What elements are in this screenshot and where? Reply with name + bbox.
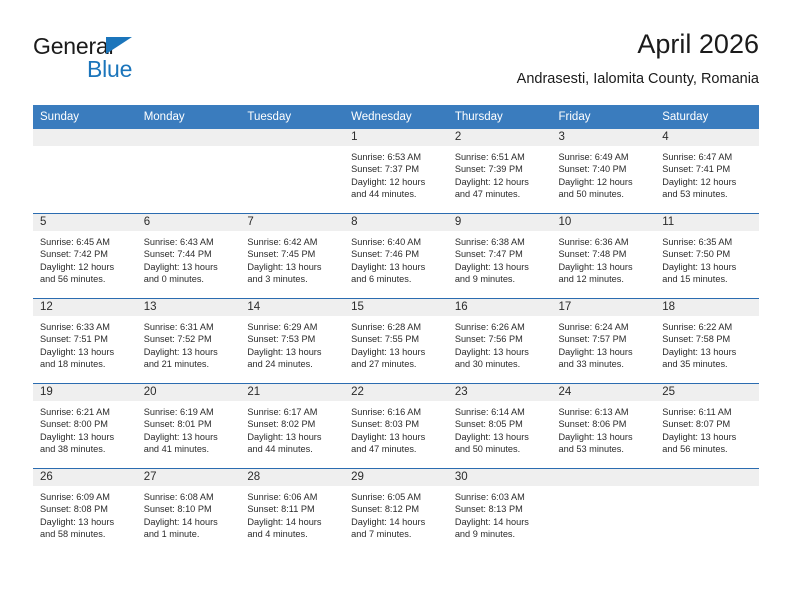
sunrise-text: Sunrise: 6:47 AM bbox=[662, 151, 753, 163]
daylight-text-line2: and 41 minutes. bbox=[144, 443, 235, 455]
calendar-day-cell[interactable] bbox=[137, 129, 241, 214]
daylight-text-line1: Daylight: 13 hours bbox=[144, 346, 235, 358]
sunset-text: Sunset: 7:58 PM bbox=[662, 333, 753, 345]
calendar-day-cell[interactable]: 1Sunrise: 6:53 AMSunset: 7:37 PMDaylight… bbox=[344, 129, 448, 214]
calendar-day-cell[interactable]: 21Sunrise: 6:17 AMSunset: 8:02 PMDayligh… bbox=[240, 384, 344, 469]
sunset-text: Sunset: 7:44 PM bbox=[144, 248, 235, 260]
weekday-header-wednesday: Wednesday bbox=[344, 105, 448, 129]
sunrise-sunset-calendar: Sunday Monday Tuesday Wednesday Thursday… bbox=[33, 105, 759, 553]
daylight-text-line1: Daylight: 12 hours bbox=[40, 261, 131, 273]
daylight-text-line1: Daylight: 14 hours bbox=[144, 516, 235, 528]
calendar-page: General Blue April 2026 Andrasesti, Ialo… bbox=[0, 0, 792, 612]
sunset-text: Sunset: 7:56 PM bbox=[455, 333, 546, 345]
calendar-day-cell[interactable]: 17Sunrise: 6:24 AMSunset: 7:57 PMDayligh… bbox=[552, 299, 656, 384]
sunrise-text: Sunrise: 6:08 AM bbox=[144, 491, 235, 503]
day-number: 18 bbox=[655, 299, 759, 316]
sunset-text: Sunset: 7:45 PM bbox=[247, 248, 338, 260]
calendar-day-cell[interactable]: 18Sunrise: 6:22 AMSunset: 7:58 PMDayligh… bbox=[655, 299, 759, 384]
day-number: 13 bbox=[137, 299, 241, 316]
sunset-text: Sunset: 8:06 PM bbox=[559, 418, 650, 430]
day-number: 30 bbox=[448, 469, 552, 486]
day-number: 2 bbox=[448, 129, 552, 146]
daylight-text-line2: and 44 minutes. bbox=[247, 443, 338, 455]
sunset-text: Sunset: 7:46 PM bbox=[351, 248, 442, 260]
day-details: Sunrise: 6:08 AMSunset: 8:10 PMDaylight:… bbox=[137, 486, 241, 541]
daylight-text-line1: Daylight: 13 hours bbox=[247, 261, 338, 273]
day-details: Sunrise: 6:06 AMSunset: 8:11 PMDaylight:… bbox=[240, 486, 344, 541]
day-number bbox=[137, 129, 241, 146]
day-details: Sunrise: 6:33 AMSunset: 7:51 PMDaylight:… bbox=[33, 316, 137, 371]
sunrise-text: Sunrise: 6:19 AM bbox=[144, 406, 235, 418]
day-number: 3 bbox=[552, 129, 656, 146]
daylight-text-line2: and 50 minutes. bbox=[559, 188, 650, 200]
day-details bbox=[655, 486, 759, 491]
calendar-week-row: 26Sunrise: 6:09 AMSunset: 8:08 PMDayligh… bbox=[33, 469, 759, 554]
sunset-text: Sunset: 8:08 PM bbox=[40, 503, 131, 515]
logo-word-blue: Blue bbox=[33, 57, 243, 82]
day-details: Sunrise: 6:45 AMSunset: 7:42 PMDaylight:… bbox=[33, 231, 137, 286]
page-title: April 2026 bbox=[517, 28, 759, 60]
day-number: 28 bbox=[240, 469, 344, 486]
day-number: 23 bbox=[448, 384, 552, 401]
sunrise-text: Sunrise: 6:21 AM bbox=[40, 406, 131, 418]
day-number: 12 bbox=[33, 299, 137, 316]
calendar-day-cell[interactable]: 5Sunrise: 6:45 AMSunset: 7:42 PMDaylight… bbox=[33, 214, 137, 299]
sunset-text: Sunset: 7:50 PM bbox=[662, 248, 753, 260]
day-number: 26 bbox=[33, 469, 137, 486]
day-details: Sunrise: 6:38 AMSunset: 7:47 PMDaylight:… bbox=[448, 231, 552, 286]
daylight-text-line1: Daylight: 13 hours bbox=[559, 346, 650, 358]
day-details: Sunrise: 6:42 AMSunset: 7:45 PMDaylight:… bbox=[240, 231, 344, 286]
day-details: Sunrise: 6:19 AMSunset: 8:01 PMDaylight:… bbox=[137, 401, 241, 456]
calendar-day-cell[interactable]: 16Sunrise: 6:26 AMSunset: 7:56 PMDayligh… bbox=[448, 299, 552, 384]
sunrise-text: Sunrise: 6:24 AM bbox=[559, 321, 650, 333]
daylight-text-line2: and 56 minutes. bbox=[40, 273, 131, 285]
sunset-text: Sunset: 7:55 PM bbox=[351, 333, 442, 345]
sunrise-text: Sunrise: 6:14 AM bbox=[455, 406, 546, 418]
daylight-text-line1: Daylight: 13 hours bbox=[247, 346, 338, 358]
daylight-text-line2: and 35 minutes. bbox=[662, 358, 753, 370]
sunrise-text: Sunrise: 6:31 AM bbox=[144, 321, 235, 333]
day-details: Sunrise: 6:28 AMSunset: 7:55 PMDaylight:… bbox=[344, 316, 448, 371]
weekday-header-tuesday: Tuesday bbox=[240, 105, 344, 129]
day-number: 4 bbox=[655, 129, 759, 146]
day-details: Sunrise: 6:11 AMSunset: 8:07 PMDaylight:… bbox=[655, 401, 759, 456]
sunset-text: Sunset: 8:01 PM bbox=[144, 418, 235, 430]
day-number: 19 bbox=[33, 384, 137, 401]
logo-triangle-icon bbox=[106, 37, 132, 54]
sunrise-text: Sunrise: 6:13 AM bbox=[559, 406, 650, 418]
day-details: Sunrise: 6:09 AMSunset: 8:08 PMDaylight:… bbox=[33, 486, 137, 541]
day-number bbox=[552, 469, 656, 486]
calendar-day-cell[interactable]: 20Sunrise: 6:19 AMSunset: 8:01 PMDayligh… bbox=[137, 384, 241, 469]
calendar-day-cell[interactable]: 15Sunrise: 6:28 AMSunset: 7:55 PMDayligh… bbox=[344, 299, 448, 384]
sunset-text: Sunset: 7:53 PM bbox=[247, 333, 338, 345]
sunset-text: Sunset: 8:03 PM bbox=[351, 418, 442, 430]
calendar-body: 1Sunrise: 6:53 AMSunset: 7:37 PMDaylight… bbox=[33, 129, 759, 553]
day-details: Sunrise: 6:05 AMSunset: 8:12 PMDaylight:… bbox=[344, 486, 448, 541]
weekday-header-friday: Friday bbox=[552, 105, 656, 129]
daylight-text-line1: Daylight: 12 hours bbox=[662, 176, 753, 188]
day-number: 24 bbox=[552, 384, 656, 401]
day-details: Sunrise: 6:40 AMSunset: 7:46 PMDaylight:… bbox=[344, 231, 448, 286]
sunrise-text: Sunrise: 6:22 AM bbox=[662, 321, 753, 333]
day-details: Sunrise: 6:29 AMSunset: 7:53 PMDaylight:… bbox=[240, 316, 344, 371]
calendar-day-cell[interactable] bbox=[655, 469, 759, 554]
sunrise-text: Sunrise: 6:53 AM bbox=[351, 151, 442, 163]
sunrise-text: Sunrise: 6:29 AM bbox=[247, 321, 338, 333]
daylight-text-line1: Daylight: 12 hours bbox=[351, 176, 442, 188]
sunset-text: Sunset: 8:00 PM bbox=[40, 418, 131, 430]
daylight-text-line1: Daylight: 13 hours bbox=[351, 261, 442, 273]
day-number: 10 bbox=[552, 214, 656, 231]
day-details: Sunrise: 6:21 AMSunset: 8:00 PMDaylight:… bbox=[33, 401, 137, 456]
sunrise-text: Sunrise: 6:16 AM bbox=[351, 406, 442, 418]
sunset-text: Sunset: 8:07 PM bbox=[662, 418, 753, 430]
day-number: 8 bbox=[344, 214, 448, 231]
sunrise-text: Sunrise: 6:06 AM bbox=[247, 491, 338, 503]
weekday-header-monday: Monday bbox=[137, 105, 241, 129]
day-details bbox=[137, 146, 241, 151]
daylight-text-line2: and 53 minutes. bbox=[662, 188, 753, 200]
daylight-text-line1: Daylight: 13 hours bbox=[455, 261, 546, 273]
day-details: Sunrise: 6:16 AMSunset: 8:03 PMDaylight:… bbox=[344, 401, 448, 456]
day-number: 11 bbox=[655, 214, 759, 231]
sunrise-text: Sunrise: 6:38 AM bbox=[455, 236, 546, 248]
calendar-day-cell[interactable] bbox=[240, 129, 344, 214]
day-number bbox=[33, 129, 137, 146]
day-details: Sunrise: 6:17 AMSunset: 8:02 PMDaylight:… bbox=[240, 401, 344, 456]
day-details: Sunrise: 6:03 AMSunset: 8:13 PMDaylight:… bbox=[448, 486, 552, 541]
daylight-text-line2: and 50 minutes. bbox=[455, 443, 546, 455]
sunset-text: Sunset: 7:47 PM bbox=[455, 248, 546, 260]
calendar-week-row: 5Sunrise: 6:45 AMSunset: 7:42 PMDaylight… bbox=[33, 214, 759, 299]
daylight-text-line2: and 33 minutes. bbox=[559, 358, 650, 370]
sunrise-text: Sunrise: 6:09 AM bbox=[40, 491, 131, 503]
daylight-text-line1: Daylight: 13 hours bbox=[351, 346, 442, 358]
calendar-day-cell[interactable]: 25Sunrise: 6:11 AMSunset: 8:07 PMDayligh… bbox=[655, 384, 759, 469]
daylight-text-line1: Daylight: 13 hours bbox=[559, 431, 650, 443]
daylight-text-line2: and 9 minutes. bbox=[455, 528, 546, 540]
sunrise-text: Sunrise: 6:43 AM bbox=[144, 236, 235, 248]
day-details: Sunrise: 6:49 AMSunset: 7:40 PMDaylight:… bbox=[552, 146, 656, 201]
calendar-day-cell[interactable]: 30Sunrise: 6:03 AMSunset: 8:13 PMDayligh… bbox=[448, 469, 552, 554]
daylight-text-line2: and 4 minutes. bbox=[247, 528, 338, 540]
sunset-text: Sunset: 7:37 PM bbox=[351, 163, 442, 175]
weekday-header-saturday: Saturday bbox=[655, 105, 759, 129]
daylight-text-line2: and 47 minutes. bbox=[351, 443, 442, 455]
sunrise-text: Sunrise: 6:40 AM bbox=[351, 236, 442, 248]
day-number: 5 bbox=[33, 214, 137, 231]
sunrise-text: Sunrise: 6:35 AM bbox=[662, 236, 753, 248]
sunrise-text: Sunrise: 6:05 AM bbox=[351, 491, 442, 503]
calendar-day-cell[interactable]: 14Sunrise: 6:29 AMSunset: 7:53 PMDayligh… bbox=[240, 299, 344, 384]
sunrise-text: Sunrise: 6:17 AM bbox=[247, 406, 338, 418]
sunrise-text: Sunrise: 6:45 AM bbox=[40, 236, 131, 248]
sunrise-text: Sunrise: 6:36 AM bbox=[559, 236, 650, 248]
sunset-text: Sunset: 8:13 PM bbox=[455, 503, 546, 515]
daylight-text-line2: and 56 minutes. bbox=[662, 443, 753, 455]
calendar-day-cell[interactable]: 23Sunrise: 6:14 AMSunset: 8:05 PMDayligh… bbox=[448, 384, 552, 469]
sunrise-text: Sunrise: 6:42 AM bbox=[247, 236, 338, 248]
day-details bbox=[33, 146, 137, 151]
calendar-day-cell[interactable]: 11Sunrise: 6:35 AMSunset: 7:50 PMDayligh… bbox=[655, 214, 759, 299]
logo-text-general: General bbox=[33, 34, 243, 59]
sunrise-text: Sunrise: 6:49 AM bbox=[559, 151, 650, 163]
day-details: Sunrise: 6:14 AMSunset: 8:05 PMDaylight:… bbox=[448, 401, 552, 456]
daylight-text-line1: Daylight: 13 hours bbox=[40, 346, 131, 358]
daylight-text-line2: and 24 minutes. bbox=[247, 358, 338, 370]
sunset-text: Sunset: 7:41 PM bbox=[662, 163, 753, 175]
title-block: April 2026 Andrasesti, Ialomita County, … bbox=[517, 28, 759, 89]
calendar-day-cell[interactable]: 19Sunrise: 6:21 AMSunset: 8:00 PMDayligh… bbox=[33, 384, 137, 469]
daylight-text-line2: and 7 minutes. bbox=[351, 528, 442, 540]
calendar-day-cell[interactable]: 24Sunrise: 6:13 AMSunset: 8:06 PMDayligh… bbox=[552, 384, 656, 469]
daylight-text-line2: and 30 minutes. bbox=[455, 358, 546, 370]
daylight-text-line1: Daylight: 13 hours bbox=[351, 431, 442, 443]
page-subtitle: Andrasesti, Ialomita County, Romania bbox=[517, 69, 759, 89]
day-number: 7 bbox=[240, 214, 344, 231]
daylight-text-line2: and 1 minute. bbox=[144, 528, 235, 540]
daylight-text-line2: and 18 minutes. bbox=[40, 358, 131, 370]
logo-word-general: General bbox=[33, 33, 113, 59]
daylight-text-line2: and 9 minutes. bbox=[455, 273, 546, 285]
day-details: Sunrise: 6:51 AMSunset: 7:39 PMDaylight:… bbox=[448, 146, 552, 201]
daylight-text-line1: Daylight: 13 hours bbox=[455, 346, 546, 358]
day-details: Sunrise: 6:31 AMSunset: 7:52 PMDaylight:… bbox=[137, 316, 241, 371]
daylight-text-line2: and 27 minutes. bbox=[351, 358, 442, 370]
calendar-day-cell[interactable]: 2Sunrise: 6:51 AMSunset: 7:39 PMDaylight… bbox=[448, 129, 552, 214]
sunset-text: Sunset: 7:42 PM bbox=[40, 248, 131, 260]
day-details: Sunrise: 6:43 AMSunset: 7:44 PMDaylight:… bbox=[137, 231, 241, 286]
daylight-text-line1: Daylight: 13 hours bbox=[144, 431, 235, 443]
day-number: 27 bbox=[137, 469, 241, 486]
sunset-text: Sunset: 7:52 PM bbox=[144, 333, 235, 345]
day-number: 20 bbox=[137, 384, 241, 401]
calendar-day-cell[interactable]: 29Sunrise: 6:05 AMSunset: 8:12 PMDayligh… bbox=[344, 469, 448, 554]
calendar-day-cell[interactable]: 3Sunrise: 6:49 AMSunset: 7:40 PMDaylight… bbox=[552, 129, 656, 214]
calendar-day-cell[interactable]: 9Sunrise: 6:38 AMSunset: 7:47 PMDaylight… bbox=[448, 214, 552, 299]
page-header: General Blue April 2026 Andrasesti, Ialo… bbox=[33, 28, 759, 98]
day-number: 29 bbox=[344, 469, 448, 486]
day-number: 17 bbox=[552, 299, 656, 316]
calendar-day-cell[interactable] bbox=[552, 469, 656, 554]
sunset-text: Sunset: 7:39 PM bbox=[455, 163, 546, 175]
daylight-text-line1: Daylight: 13 hours bbox=[247, 431, 338, 443]
daylight-text-line1: Daylight: 12 hours bbox=[455, 176, 546, 188]
calendar-day-cell[interactable]: 8Sunrise: 6:40 AMSunset: 7:46 PMDaylight… bbox=[344, 214, 448, 299]
daylight-text-line2: and 58 minutes. bbox=[40, 528, 131, 540]
day-details: Sunrise: 6:35 AMSunset: 7:50 PMDaylight:… bbox=[655, 231, 759, 286]
calendar-week-row: 19Sunrise: 6:21 AMSunset: 8:00 PMDayligh… bbox=[33, 384, 759, 469]
day-details: Sunrise: 6:24 AMSunset: 7:57 PMDaylight:… bbox=[552, 316, 656, 371]
day-number bbox=[240, 129, 344, 146]
daylight-text-line1: Daylight: 14 hours bbox=[351, 516, 442, 528]
daylight-text-line1: Daylight: 13 hours bbox=[40, 516, 131, 528]
weekday-header-thursday: Thursday bbox=[448, 105, 552, 129]
sunset-text: Sunset: 7:57 PM bbox=[559, 333, 650, 345]
calendar-day-cell[interactable]: 12Sunrise: 6:33 AMSunset: 7:51 PMDayligh… bbox=[33, 299, 137, 384]
day-details: Sunrise: 6:47 AMSunset: 7:41 PMDaylight:… bbox=[655, 146, 759, 201]
sunset-text: Sunset: 8:05 PM bbox=[455, 418, 546, 430]
daylight-text-line2: and 15 minutes. bbox=[662, 273, 753, 285]
calendar-day-cell[interactable]: 6Sunrise: 6:43 AMSunset: 7:44 PMDaylight… bbox=[137, 214, 241, 299]
daylight-text-line2: and 38 minutes. bbox=[40, 443, 131, 455]
sunset-text: Sunset: 8:12 PM bbox=[351, 503, 442, 515]
sunset-text: Sunset: 7:48 PM bbox=[559, 248, 650, 260]
sunset-text: Sunset: 8:10 PM bbox=[144, 503, 235, 515]
day-number: 25 bbox=[655, 384, 759, 401]
sunset-text: Sunset: 7:40 PM bbox=[559, 163, 650, 175]
sunrise-text: Sunrise: 6:03 AM bbox=[455, 491, 546, 503]
daylight-text-line2: and 3 minutes. bbox=[247, 273, 338, 285]
sunrise-text: Sunrise: 6:51 AM bbox=[455, 151, 546, 163]
calendar-week-row: 12Sunrise: 6:33 AMSunset: 7:51 PMDayligh… bbox=[33, 299, 759, 384]
day-details: Sunrise: 6:22 AMSunset: 7:58 PMDaylight:… bbox=[655, 316, 759, 371]
day-number: 15 bbox=[344, 299, 448, 316]
daylight-text-line2: and 47 minutes. bbox=[455, 188, 546, 200]
sunset-text: Sunset: 8:02 PM bbox=[247, 418, 338, 430]
sunrise-text: Sunrise: 6:11 AM bbox=[662, 406, 753, 418]
day-details bbox=[552, 486, 656, 491]
day-number: 6 bbox=[137, 214, 241, 231]
sunset-text: Sunset: 8:11 PM bbox=[247, 503, 338, 515]
day-number: 21 bbox=[240, 384, 344, 401]
daylight-text-line2: and 21 minutes. bbox=[144, 358, 235, 370]
day-details: Sunrise: 6:53 AMSunset: 7:37 PMDaylight:… bbox=[344, 146, 448, 201]
calendar-day-cell[interactable]: 10Sunrise: 6:36 AMSunset: 7:48 PMDayligh… bbox=[552, 214, 656, 299]
daylight-text-line2: and 44 minutes. bbox=[351, 188, 442, 200]
day-details: Sunrise: 6:13 AMSunset: 8:06 PMDaylight:… bbox=[552, 401, 656, 456]
daylight-text-line1: Daylight: 13 hours bbox=[40, 431, 131, 443]
daylight-text-line2: and 0 minutes. bbox=[144, 273, 235, 285]
calendar-day-cell[interactable]: 28Sunrise: 6:06 AMSunset: 8:11 PMDayligh… bbox=[240, 469, 344, 554]
day-number bbox=[655, 469, 759, 486]
calendar-day-cell[interactable]: 7Sunrise: 6:42 AMSunset: 7:45 PMDaylight… bbox=[240, 214, 344, 299]
weekday-header-sunday: Sunday bbox=[33, 105, 137, 129]
daylight-text-line2: and 12 minutes. bbox=[559, 273, 650, 285]
daylight-text-line1: Daylight: 13 hours bbox=[662, 346, 753, 358]
calendar-day-cell[interactable]: 4Sunrise: 6:47 AMSunset: 7:41 PMDaylight… bbox=[655, 129, 759, 214]
day-number: 9 bbox=[448, 214, 552, 231]
daylight-text-line2: and 53 minutes. bbox=[559, 443, 650, 455]
day-number: 1 bbox=[344, 129, 448, 146]
day-number: 16 bbox=[448, 299, 552, 316]
sunrise-text: Sunrise: 6:26 AM bbox=[455, 321, 546, 333]
calendar-day-cell[interactable]: 13Sunrise: 6:31 AMSunset: 7:52 PMDayligh… bbox=[137, 299, 241, 384]
day-details: Sunrise: 6:26 AMSunset: 7:56 PMDaylight:… bbox=[448, 316, 552, 371]
day-number: 14 bbox=[240, 299, 344, 316]
calendar-week-row: 1Sunrise: 6:53 AMSunset: 7:37 PMDaylight… bbox=[33, 129, 759, 214]
daylight-text-line1: Daylight: 14 hours bbox=[455, 516, 546, 528]
general-blue-logo[interactable]: General Blue bbox=[33, 34, 243, 90]
calendar-header-row: Sunday Monday Tuesday Wednesday Thursday… bbox=[33, 105, 759, 129]
daylight-text-line2: and 6 minutes. bbox=[351, 273, 442, 285]
calendar-day-cell[interactable]: 26Sunrise: 6:09 AMSunset: 8:08 PMDayligh… bbox=[33, 469, 137, 554]
daylight-text-line1: Daylight: 14 hours bbox=[247, 516, 338, 528]
calendar-day-cell[interactable]: 22Sunrise: 6:16 AMSunset: 8:03 PMDayligh… bbox=[344, 384, 448, 469]
sunrise-text: Sunrise: 6:33 AM bbox=[40, 321, 131, 333]
calendar-day-cell[interactable] bbox=[33, 129, 137, 214]
sunrise-text: Sunrise: 6:28 AM bbox=[351, 321, 442, 333]
calendar-day-cell[interactable]: 27Sunrise: 6:08 AMSunset: 8:10 PMDayligh… bbox=[137, 469, 241, 554]
day-number: 22 bbox=[344, 384, 448, 401]
daylight-text-line1: Daylight: 13 hours bbox=[559, 261, 650, 273]
day-details bbox=[240, 146, 344, 151]
daylight-text-line1: Daylight: 12 hours bbox=[559, 176, 650, 188]
sunset-text: Sunset: 7:51 PM bbox=[40, 333, 131, 345]
daylight-text-line1: Daylight: 13 hours bbox=[455, 431, 546, 443]
day-details: Sunrise: 6:36 AMSunset: 7:48 PMDaylight:… bbox=[552, 231, 656, 286]
daylight-text-line1: Daylight: 13 hours bbox=[662, 431, 753, 443]
daylight-text-line1: Daylight: 13 hours bbox=[144, 261, 235, 273]
daylight-text-line1: Daylight: 13 hours bbox=[662, 261, 753, 273]
